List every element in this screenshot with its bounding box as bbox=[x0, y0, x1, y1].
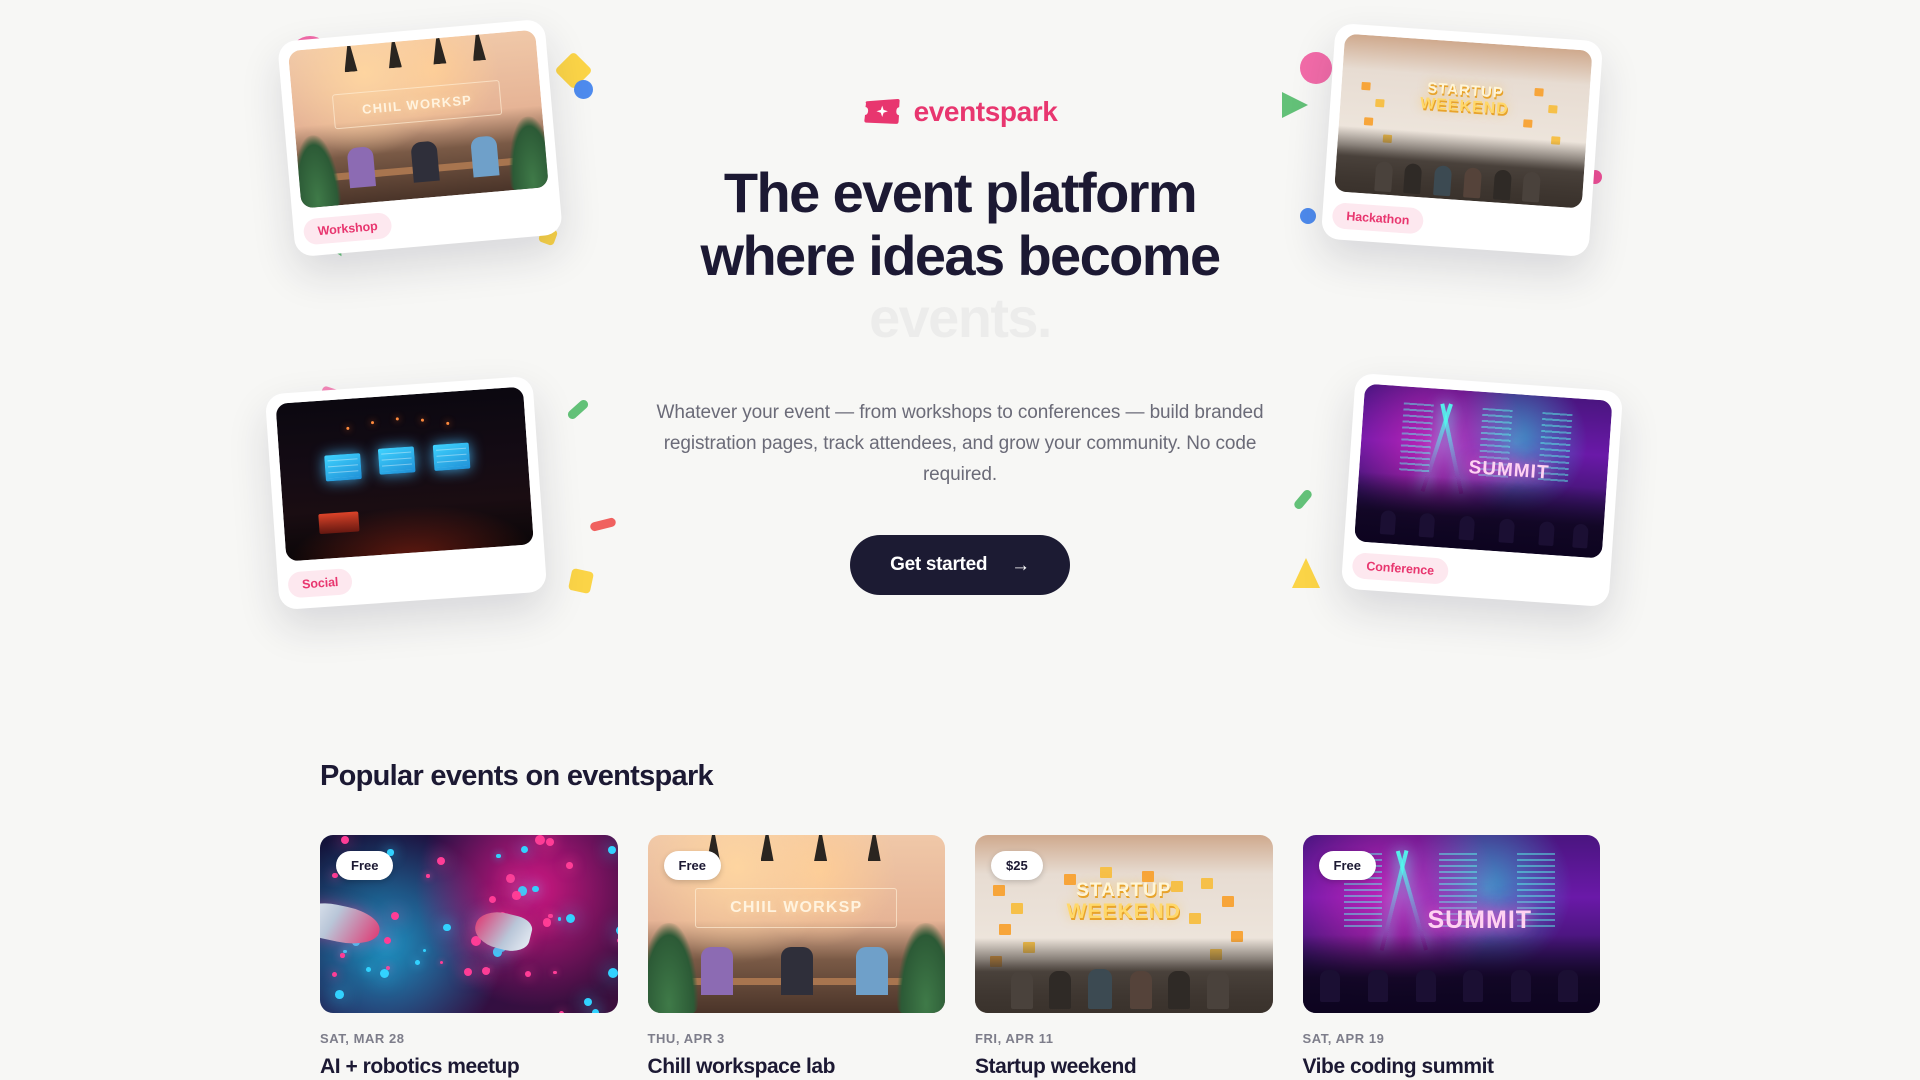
arrow-right-icon: → bbox=[1011, 556, 1030, 575]
category-chip-conference: Conference bbox=[1352, 552, 1449, 585]
green-bar bbox=[566, 398, 590, 421]
popular-events-section: Popular events on eventspark FreeSAT, MA… bbox=[0, 760, 1920, 1079]
event-title[interactable]: Startup weekend bbox=[975, 1055, 1273, 1079]
event-card[interactable]: STARTUPWEEKEND $25FRI, APR 11Startup wee… bbox=[975, 835, 1273, 1079]
floating-card-conference[interactable]: SUMMIT Conference bbox=[1341, 373, 1623, 607]
red-bar bbox=[589, 517, 616, 532]
page-title: The event platform where ideas become ev… bbox=[650, 162, 1270, 350]
event-title[interactable]: Chill workspace lab bbox=[648, 1055, 946, 1079]
popular-events-heading: Popular events on eventspark bbox=[320, 760, 1600, 793]
event-price-badge: Free bbox=[1319, 851, 1376, 880]
green-bar-conf bbox=[1292, 488, 1313, 511]
photo-sign-text-hackathon: STARTUP WEEKEND bbox=[1394, 78, 1535, 120]
event-card[interactable]: FreeSAT, MAR 28AI + robotics meetup bbox=[320, 835, 618, 1079]
blue-circle bbox=[574, 80, 593, 99]
green-triangle-right bbox=[1282, 92, 1308, 118]
floating-card-social[interactable]: Social bbox=[265, 376, 547, 610]
hero-content: eventspark The event platform where idea… bbox=[650, 96, 1270, 595]
hero-subtitle: Whatever your event — from workshops to … bbox=[650, 398, 1270, 490]
headline-line-3: events. bbox=[869, 286, 1051, 349]
event-thumbnail: STARTUPWEEKEND $25 bbox=[975, 835, 1273, 1013]
event-date: SAT, APR 19 bbox=[1303, 1031, 1601, 1046]
photo-sign-text-workshop: CHIIL WORKSP bbox=[332, 80, 503, 129]
event-thumbnail: SUMMIT Free bbox=[1303, 835, 1601, 1013]
event-date: SAT, MAR 28 bbox=[320, 1031, 618, 1046]
category-chip-workshop: Workshop bbox=[303, 212, 393, 246]
blue-circle-right bbox=[1300, 208, 1316, 224]
popular-events-grid: FreeSAT, MAR 28AI + robotics meetup CHII… bbox=[320, 835, 1600, 1079]
headline-line-1: The event platform bbox=[724, 161, 1196, 224]
event-title[interactable]: AI + robotics meetup bbox=[320, 1055, 618, 1079]
floating-card-workshop[interactable]: CHIIL WORKSP Workshop bbox=[277, 19, 563, 258]
yellow-square-social bbox=[568, 568, 594, 594]
floating-card-photo-conference: SUMMIT bbox=[1354, 384, 1612, 559]
event-price-badge: Free bbox=[336, 851, 393, 880]
headline-line-2: where ideas become bbox=[700, 224, 1219, 287]
event-card[interactable]: CHIIL WORKSP FreeTHU, APR 3Chill workspa… bbox=[648, 835, 946, 1079]
floating-card-photo-workshop: CHIIL WORKSP bbox=[288, 30, 549, 209]
event-price-badge: $25 bbox=[991, 851, 1043, 880]
pink-circle-right bbox=[1300, 52, 1332, 84]
yellow-triangle-conf bbox=[1292, 558, 1320, 588]
event-price-badge: Free bbox=[664, 851, 721, 880]
get-started-label: Get started bbox=[890, 554, 987, 576]
category-chip-social: Social bbox=[287, 568, 353, 598]
hero-section: CHIIL WORKSP Workshop bbox=[0, 0, 1920, 730]
event-title[interactable]: Vibe coding summit bbox=[1303, 1055, 1601, 1079]
floating-card-photo-hackathon: STARTUP WEEKEND bbox=[1334, 34, 1592, 209]
floating-card-photo-social bbox=[275, 387, 533, 562]
floating-card-hackathon[interactable]: STARTUP WEEKEND Hackathon bbox=[1321, 23, 1603, 257]
category-chip-hackathon: Hackathon bbox=[1332, 202, 1425, 234]
event-card[interactable]: SUMMIT FreeSAT, APR 19Vibe coding summit bbox=[1303, 835, 1601, 1079]
event-date: FRI, APR 11 bbox=[975, 1031, 1273, 1046]
event-thumbnail: CHIIL WORKSP Free bbox=[648, 835, 946, 1013]
brand-name: eventspark bbox=[914, 96, 1058, 128]
get-started-button[interactable]: Get started → bbox=[850, 535, 1070, 595]
event-thumbnail: Free bbox=[320, 835, 618, 1013]
brand-logo[interactable]: eventspark bbox=[650, 96, 1270, 128]
event-date: THU, APR 3 bbox=[648, 1031, 946, 1046]
ticket-sparkle-icon bbox=[863, 98, 903, 126]
